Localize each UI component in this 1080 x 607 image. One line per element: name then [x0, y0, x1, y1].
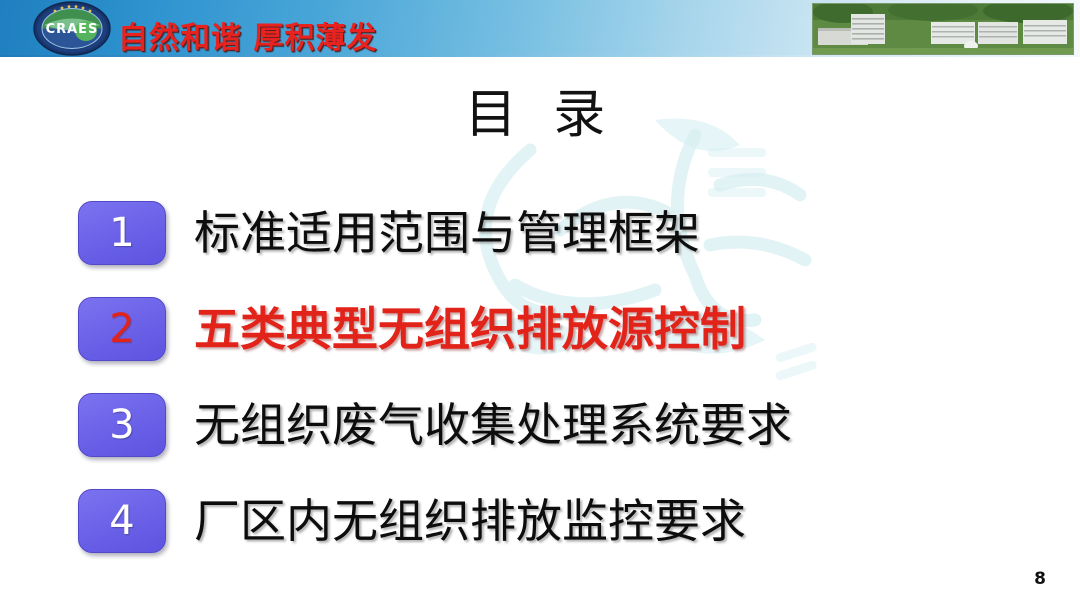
toc-badge-1: 1: [78, 201, 166, 265]
header-slogan: 自然和谐 厚积薄发: [118, 13, 377, 57]
toc-item-4[interactable]: 4 厂区内无组织排放监控要求: [78, 473, 1018, 569]
toc-badge-number: 4: [109, 501, 134, 541]
toc-badge-2: 2: [78, 297, 166, 361]
toc-label-1: 标准适用范围与管理框架: [194, 209, 700, 257]
toc-badge-number: 1: [109, 213, 134, 253]
toc-item-2[interactable]: 2 五类典型无组织排放源控制: [78, 281, 1018, 377]
toc-badge-number: 3: [109, 405, 134, 445]
toc-label-4: 厂区内无组织排放监控要求: [194, 497, 746, 545]
toc-badge-4: 4: [78, 489, 166, 553]
toc-label-3: 无组织废气收集处理系统要求: [194, 401, 792, 449]
toc-badge-number: 2: [109, 309, 134, 349]
page-title: 目 录: [0, 72, 1080, 147]
toc-badge-3: 3: [78, 393, 166, 457]
svg-text:CRAES: CRAES: [46, 22, 99, 37]
table-of-contents: 1 标准适用范围与管理框架 2 五类典型无组织排放源控制 3 无组织废气收集处理…: [78, 185, 1018, 569]
toc-item-3[interactable]: 3 无组织废气收集处理系统要求: [78, 377, 1018, 473]
toc-label-2: 五类典型无组织排放源控制: [194, 305, 746, 353]
slide-root: CRAES 自然和谐 厚积薄发: [0, 0, 1080, 607]
toc-item-1[interactable]: 1 标准适用范围与管理框架: [78, 185, 1018, 281]
campus-photo: [812, 3, 1074, 55]
craes-logo-icon: CRAES: [33, 1, 111, 56]
page-number: 8: [1034, 569, 1046, 589]
